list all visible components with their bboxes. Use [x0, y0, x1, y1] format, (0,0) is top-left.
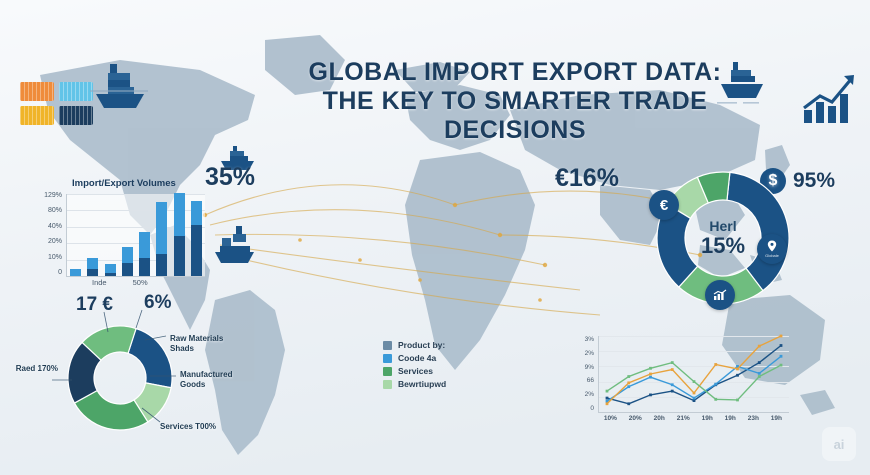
line-marker	[671, 390, 674, 393]
line-chart-y-axis: 3%2%9%662%0	[578, 336, 594, 412]
line-y-tick-4: 2%	[585, 391, 594, 398]
line-marker	[606, 390, 609, 393]
bar-segment-export	[105, 264, 116, 273]
bar-segment-import	[105, 273, 116, 276]
line-marker	[736, 368, 739, 371]
table-row	[70, 269, 81, 276]
bar-segment-import	[139, 258, 150, 276]
bar-y-tick-0: 129%	[44, 192, 62, 199]
line-marker	[627, 402, 630, 405]
legend-swatch-icon	[383, 380, 392, 389]
bar-segment-export	[70, 269, 81, 276]
line-x-tick-1: 20%	[629, 415, 642, 422]
line-marker	[649, 367, 652, 370]
cargo-ship-icon	[88, 58, 150, 115]
bar-segment-export	[139, 232, 150, 258]
title-line-1: GLOBAL IMPORT EXPORT DATA:	[250, 58, 780, 87]
table-row	[139, 232, 150, 276]
legend-item-1[interactable]: Coode 4a	[383, 353, 446, 363]
line-marker	[671, 368, 674, 371]
legend-swatch-icon	[383, 354, 392, 363]
table-row	[105, 264, 116, 276]
location-pin-icon	[766, 240, 778, 252]
title-line-2: THE KEY TO SMARTER TRADE DECISIONS	[250, 87, 780, 145]
location-badge-icon: Globale	[757, 234, 787, 264]
bar-y-tick-4: 10%	[48, 254, 62, 261]
growth-chart-icon	[800, 72, 858, 129]
line-marker	[780, 344, 783, 347]
bar-segment-import	[122, 263, 133, 276]
euro-badge-icon: €	[649, 190, 679, 220]
line-marker	[780, 364, 783, 367]
line-x-tick-6: 23h	[748, 415, 759, 422]
table-row	[87, 258, 98, 276]
line-marker	[671, 383, 674, 386]
bar-y-tick-2: 40%	[48, 223, 62, 230]
chart-legend: Product by:Coode 4aServicesBewrtiupwd	[383, 340, 446, 392]
container-amber-icon	[20, 106, 54, 125]
bar-segment-export	[87, 258, 98, 269]
line-marker	[693, 397, 696, 400]
donut-label-raed: Raed 170%	[14, 364, 58, 374]
line-marker	[780, 355, 783, 358]
bar-chart-plot	[66, 194, 205, 277]
line-marker	[736, 399, 739, 402]
legend-swatch-icon	[383, 367, 392, 376]
line-y-tick-1: 2%	[585, 350, 594, 357]
line-marker	[758, 372, 761, 375]
global-share-donut: Herl 15% € Globale	[653, 168, 793, 308]
line-y-tick-2: 9%	[585, 364, 594, 371]
watermark: ai	[822, 427, 856, 461]
bar-chart-title: Import/Export Volumes	[72, 178, 176, 189]
line-chart-x-axis: 10%20%20h21%19h19h23h19h	[598, 415, 788, 422]
legend-swatch-icon	[383, 341, 392, 350]
bar-y-tick-5: 0	[58, 269, 62, 276]
ship-callout-value: 35%	[205, 163, 255, 192]
line-chart-plot	[598, 336, 789, 413]
donut-label-raw-materials: Raw Materials Shads	[170, 334, 242, 354]
line-marker	[627, 385, 630, 388]
bar-segment-import	[156, 254, 167, 276]
line-marker	[758, 361, 761, 364]
page-title: GLOBAL IMPORT EXPORT DATA: THE KEY TO SM…	[250, 58, 780, 145]
line-x-tick-4: 19h	[702, 415, 713, 422]
legend-item-3[interactable]: Bewrtiupwd	[383, 379, 446, 389]
bar-chart-x-axis: Inde50%	[66, 278, 230, 287]
line-marker	[714, 383, 717, 386]
donut-slice-0	[128, 329, 172, 388]
line-y-tick-5: 0	[590, 405, 594, 412]
legend-label: Coode 4a	[398, 353, 436, 363]
infographic-canvas: GLOBAL IMPORT EXPORT DATA: THE KEY TO SM…	[0, 0, 870, 475]
donut-small-callout-left: 17 €	[76, 294, 113, 316]
bar-segment-import	[87, 269, 98, 276]
legend-item-2[interactable]: Services	[383, 366, 446, 376]
line-marker	[649, 394, 652, 397]
line-x-tick-2: 20h	[654, 415, 665, 422]
cargo-ship-mid-icon	[210, 218, 258, 271]
bar-segment-export	[156, 202, 167, 254]
line-marker	[758, 345, 761, 348]
bar-growth-icon	[713, 289, 727, 301]
bar-y-tick-3: 20%	[48, 238, 62, 245]
line-series-1	[607, 356, 781, 401]
table-row	[191, 201, 202, 276]
line-marker	[736, 374, 739, 377]
line-marker	[606, 402, 609, 405]
bar-x-tick-1: 50%	[133, 278, 148, 287]
euro-callout-value: €16%	[555, 164, 619, 193]
line-y-tick-0: 3%	[585, 336, 594, 343]
bar-chart: Import/Export Volumes 129%80%40%20%10%0 …	[28, 180, 208, 288]
donut-small-callout-right: 6%	[144, 292, 171, 314]
bar-segment-import	[191, 225, 202, 276]
bar-segment-export	[122, 247, 133, 263]
line-marker	[714, 398, 717, 401]
line-marker	[627, 381, 630, 384]
bar-segment-export	[191, 201, 202, 226]
table-row	[156, 202, 167, 276]
legend-label: Services	[398, 366, 433, 376]
shipping-containers-group	[20, 82, 93, 125]
bar-x-tick-0: Inde	[92, 278, 107, 287]
line-marker	[780, 335, 783, 338]
trend-line-chart: 3%2%9%662%0 10%20%20h21%19h19h23h19h	[578, 336, 790, 432]
bar-segment-export	[174, 193, 185, 236]
legend-item-0[interactable]: Product by:	[383, 340, 446, 350]
line-marker	[714, 363, 717, 366]
legend-label: Bewrtiupwd	[398, 379, 446, 389]
line-marker	[606, 397, 609, 400]
bar-y-tick-1: 80%	[48, 207, 62, 214]
bar-segment-import	[174, 236, 185, 276]
table-row	[174, 193, 185, 276]
line-marker	[649, 376, 652, 379]
line-marker	[758, 375, 761, 378]
growth-badge-icon	[705, 280, 735, 310]
product-breakdown-donut: 17 € 6% Raw Materials Shads Manufactured…	[60, 318, 180, 438]
line-marker	[649, 373, 652, 376]
line-x-tick-7: 19h	[771, 415, 782, 422]
dollar-callout-value: 95%	[793, 169, 835, 193]
legend-label: Product by:	[398, 340, 445, 350]
donut-slice-0	[727, 172, 789, 290]
bar-chart-y-axis: 129%80%40%20%10%0	[28, 192, 62, 276]
line-x-tick-0: 10%	[604, 415, 617, 422]
donut-label-services: Services T00%	[160, 422, 220, 432]
euro-glyph: €	[660, 197, 668, 214]
line-marker	[693, 392, 696, 395]
location-badge-label: Globale	[765, 253, 779, 258]
line-marker	[693, 399, 696, 402]
line-marker	[693, 380, 696, 383]
line-x-tick-5: 19h	[725, 415, 736, 422]
table-row	[122, 247, 133, 277]
container-orange-icon	[20, 82, 54, 101]
line-marker	[627, 375, 630, 378]
line-marker	[671, 361, 674, 364]
donut-label-manufactured: Manufactured Goods	[180, 370, 246, 390]
line-x-tick-3: 21%	[677, 415, 690, 422]
line-y-tick-3: 66	[587, 377, 594, 384]
